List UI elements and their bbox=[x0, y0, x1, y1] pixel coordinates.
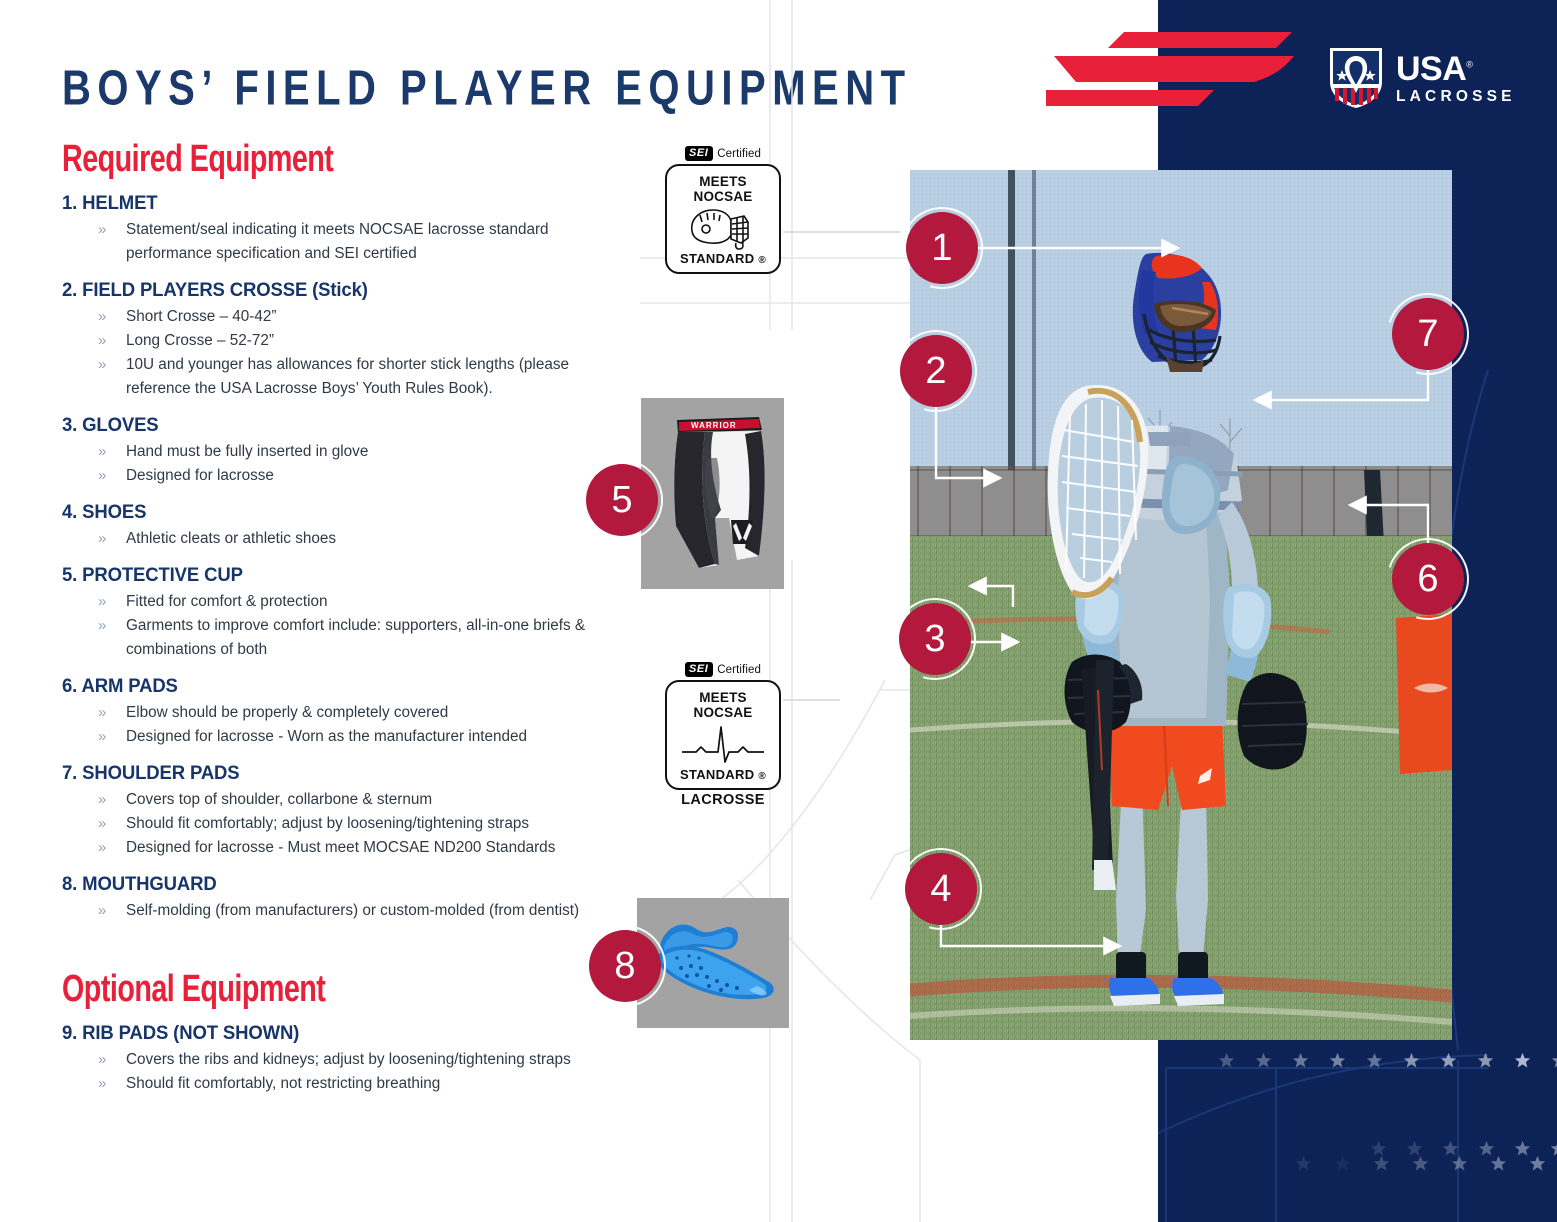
bullet-text: Covers top of shoulder, collarbone & ste… bbox=[126, 788, 622, 812]
sei-mark-icon: SEI bbox=[685, 662, 713, 677]
equipment-title: 5. PROTECTIVE CUP bbox=[62, 564, 594, 587]
bullet-marker-icon: » bbox=[98, 836, 126, 860]
bullet-marker-icon: » bbox=[98, 440, 126, 464]
equipment-title: 6. ARM PADS bbox=[62, 675, 594, 698]
bullet-text: Athletic cleats or athletic shoes bbox=[126, 527, 622, 551]
seal-caption-lacrosse: LACROSSE bbox=[665, 792, 781, 808]
page-title: BOYS’ FIELD PLAYER EQUIPMENT bbox=[62, 62, 912, 117]
equipment-title: 8. MOUTHGUARD bbox=[62, 873, 594, 896]
bullet-marker-icon: » bbox=[98, 329, 126, 353]
sei-certified-label: Certified bbox=[717, 148, 761, 160]
equipment-bullet: » Short Crosse – 40-42” bbox=[62, 305, 622, 329]
star-icon bbox=[1490, 1155, 1507, 1172]
bullet-marker-icon: » bbox=[98, 1072, 126, 1096]
star-icon bbox=[1255, 1052, 1272, 1069]
equipment-bullet: » Should fit comfortably; adjust by loos… bbox=[62, 812, 622, 836]
equipment-bullet: » Fitted for comfort & protection bbox=[62, 590, 622, 614]
waveform-icon bbox=[680, 724, 766, 764]
equipment-title: 1. HELMET bbox=[62, 192, 594, 215]
sei-certified-label: Certified bbox=[717, 664, 761, 676]
bullet-text: Elbow should be properly & completely co… bbox=[126, 701, 622, 725]
bullet-text: Short Crosse – 40-42” bbox=[126, 305, 622, 329]
decorative-stars-row-1 bbox=[1218, 1052, 1557, 1069]
star-icon bbox=[1529, 1155, 1546, 1172]
seal-line-1: MEETS bbox=[671, 174, 775, 189]
equipment-bullet: » 10U and younger has allowances for sho… bbox=[62, 353, 622, 401]
star-icon bbox=[1451, 1155, 1468, 1172]
star-icon bbox=[1366, 1052, 1383, 1069]
seal-bottom-label: STANDARD bbox=[680, 767, 754, 782]
logo-lacrosse-text: LACROSSE bbox=[1396, 89, 1516, 105]
equipment-bullet: » Covers top of shoulder, collarbone & s… bbox=[62, 788, 622, 812]
bullet-text: Designed for lacrosse - Worn as the manu… bbox=[126, 725, 622, 749]
equipment-bullet: » Designed for lacrosse - Must meet MOCS… bbox=[62, 836, 622, 860]
bullet-text: Designed for lacrosse - Must meet MOCSAE… bbox=[126, 836, 622, 860]
equipment-bullet: » Long Crosse – 52-72” bbox=[62, 329, 622, 353]
bullet-marker-icon: » bbox=[98, 614, 126, 638]
star-icon bbox=[1334, 1155, 1351, 1172]
star-icon bbox=[1440, 1052, 1457, 1069]
bullet-text: Should fit comfortably, not restricting … bbox=[126, 1072, 662, 1096]
equipment-title: 4. SHOES bbox=[62, 501, 594, 524]
equipment-bullet: » Statement/seal indicating it meets NOC… bbox=[62, 218, 622, 266]
callout-badge-5[interactable]: 5 bbox=[586, 464, 658, 536]
seal-line-2: NOCSAE bbox=[671, 189, 775, 204]
equipment-title: 3. GLOVES bbox=[62, 414, 594, 437]
callout-badge-2[interactable]: 2 bbox=[900, 335, 972, 407]
equipment-title: 9. RIB PADS (NOT SHOWN) bbox=[62, 1022, 632, 1045]
callout-badge-1[interactable]: 1 bbox=[906, 212, 978, 284]
bullet-text: Self-molding (from manufacturers) or cus… bbox=[126, 899, 622, 923]
required-equipment-list: 1. HELMET » Statement/seal indicating it… bbox=[62, 192, 622, 936]
helmet-icon bbox=[686, 205, 760, 251]
bullet-marker-icon: » bbox=[98, 527, 126, 551]
equipment-item-helmet: 1. HELMET » Statement/seal indicating it… bbox=[62, 192, 622, 266]
star-icon bbox=[1477, 1052, 1494, 1069]
usa-lacrosse-logo: USA® LACROSSE bbox=[1328, 46, 1506, 110]
equipment-item-gloves: 3. GLOVES » Hand must be fully inserted … bbox=[62, 414, 622, 488]
equipment-item-protective-cup: 5. PROTECTIVE CUP » Fitted for comfort &… bbox=[62, 564, 622, 662]
bullet-marker-icon: » bbox=[98, 812, 126, 836]
bullet-marker-icon: » bbox=[98, 590, 126, 614]
bullet-marker-icon: » bbox=[98, 305, 126, 329]
equipment-item-shoulder-pads: 7. SHOULDER PADS » Covers top of shoulde… bbox=[62, 762, 622, 860]
seal-line-1: MEETS bbox=[671, 690, 775, 705]
equipment-item-shoes: 4. SHOES » Athletic cleats or athletic s… bbox=[62, 501, 622, 551]
bullet-text: Long Crosse – 52-72” bbox=[126, 329, 622, 353]
bullet-text: Hand must be fully inserted in glove bbox=[126, 440, 622, 464]
callout-badge-6[interactable]: 6 bbox=[1392, 543, 1464, 615]
star-icon bbox=[1292, 1052, 1309, 1069]
nocsae-helmet-seal: SEI Certified MEETS NOCSAE bbox=[665, 146, 781, 274]
bullet-marker-icon: » bbox=[98, 1048, 126, 1072]
star-icon bbox=[1329, 1052, 1346, 1069]
bullet-text: Should fit comfortably; adjust by loosen… bbox=[126, 812, 622, 836]
bullet-marker-icon: » bbox=[98, 464, 126, 488]
callout-badge-3[interactable]: 3 bbox=[899, 603, 971, 675]
bullet-text: Covers the ribs and kidneys; adjust by l… bbox=[126, 1048, 662, 1072]
optional-equipment-list: 9. RIB PADS (NOT SHOWN) » Covers the rib… bbox=[62, 1022, 662, 1109]
section-heading-required: Required Equipment bbox=[62, 136, 333, 180]
bullet-text: 10U and younger has allowances for short… bbox=[126, 353, 622, 401]
equipment-bullet: » Athletic cleats or athletic shoes bbox=[62, 527, 622, 551]
callout-badge-8[interactable]: 8 bbox=[589, 930, 661, 1002]
logo-registered-mark: ® bbox=[1466, 59, 1472, 69]
equipment-title: 2. FIELD PLAYERS CROSSE (Stick) bbox=[62, 279, 594, 302]
star-icon bbox=[1295, 1155, 1312, 1172]
equipment-bullet: » Hand must be fully inserted in glove bbox=[62, 440, 622, 464]
nocsae-lacrosse-seal: SEI Certified MEETS NOCSAE STANDARD ® LA… bbox=[665, 662, 781, 808]
star-icon bbox=[1551, 1052, 1557, 1069]
equipment-bullet: » Self-molding (from manufacturers) or c… bbox=[62, 899, 622, 923]
equipment-bullet: » Designed for lacrosse bbox=[62, 464, 622, 488]
bullet-text: Designed for lacrosse bbox=[126, 464, 622, 488]
equipment-item-mouthguard: 8. MOUTHGUARD » Self-molding (from manuf… bbox=[62, 873, 622, 923]
star-icon bbox=[1373, 1155, 1390, 1172]
star-icon bbox=[1218, 1052, 1235, 1069]
bullet-text: Fitted for comfort & protection bbox=[126, 590, 622, 614]
bullet-marker-icon: » bbox=[98, 899, 126, 923]
seal-bottom-label: STANDARD bbox=[680, 251, 754, 266]
seal-registered-mark: ® bbox=[758, 771, 766, 782]
bullet-text: Statement/seal indicating it meets NOCSA… bbox=[126, 218, 622, 266]
equipment-bullet: » Designed for lacrosse - Worn as the ma… bbox=[62, 725, 622, 749]
seal-registered-mark: ® bbox=[758, 255, 766, 266]
bullet-marker-icon: » bbox=[98, 725, 126, 749]
sei-mark-icon: SEI bbox=[685, 146, 713, 161]
section-heading-optional: Optional Equipment bbox=[62, 966, 325, 1010]
star-icon bbox=[1403, 1052, 1420, 1069]
decorative-stars-row-3 bbox=[1295, 1155, 1557, 1172]
usa-lacrosse-shield-icon bbox=[1328, 46, 1384, 110]
brand-swoosh-graphic bbox=[1046, 26, 1296, 108]
seal-line-2: NOCSAE bbox=[671, 705, 775, 720]
equipment-bullet: » Covers the ribs and kidneys; adjust by… bbox=[62, 1048, 662, 1072]
svg-text:WARRIOR: WARRIOR bbox=[691, 421, 737, 430]
equipment-title: 7. SHOULDER PADS bbox=[62, 762, 594, 785]
callout-badge-7[interactable]: 7 bbox=[1392, 298, 1464, 370]
callout-badge-4[interactable]: 4 bbox=[905, 853, 977, 925]
lacrosse-player-photo bbox=[910, 170, 1452, 1040]
infographic-page: USA® LACROSSE BOYS’ FIELD PLAYER EQUIPME… bbox=[0, 0, 1557, 1222]
equipment-item-arm-pads: 6. ARM PADS » Elbow should be properly &… bbox=[62, 675, 622, 749]
star-icon bbox=[1514, 1052, 1531, 1069]
equipment-bullet: » Garments to improve comfort include: s… bbox=[62, 614, 622, 662]
star-icon bbox=[1412, 1155, 1429, 1172]
bullet-marker-icon: » bbox=[98, 353, 126, 377]
equipment-item-rib-pads: 9. RIB PADS (NOT SHOWN) » Covers the rib… bbox=[62, 1022, 662, 1096]
bullet-marker-icon: » bbox=[98, 788, 126, 812]
equipment-item-crosse: 2. FIELD PLAYERS CROSSE (Stick) » Short … bbox=[62, 279, 622, 401]
bullet-text: Garments to improve comfort include: sup… bbox=[126, 614, 622, 662]
bullet-marker-icon: » bbox=[98, 218, 126, 242]
logo-usa-text: USA bbox=[1396, 50, 1466, 88]
equipment-bullet: » Should fit comfortably, not restrictin… bbox=[62, 1072, 662, 1096]
bullet-marker-icon: » bbox=[98, 701, 126, 725]
equipment-bullet: » Elbow should be properly & completely … bbox=[62, 701, 622, 725]
